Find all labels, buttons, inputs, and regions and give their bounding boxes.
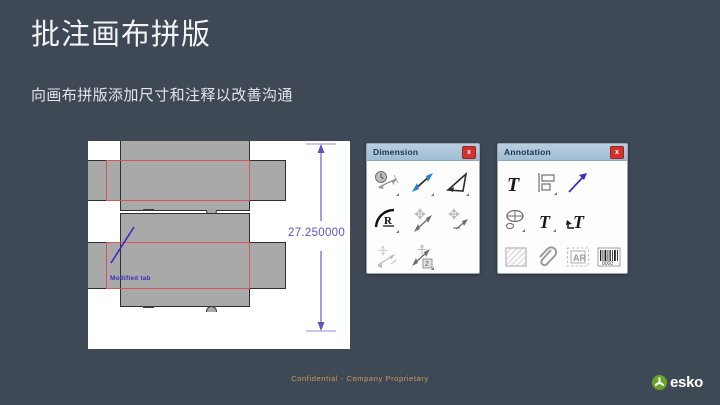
page-title: 批注画布拼版 (31, 15, 211, 55)
annotation-palette[interactable]: Annotation x T (497, 143, 628, 274)
page-subtitle: 向画布拼版添加尺寸和注释以改善沟通 (31, 85, 293, 107)
dimension-angular-icon[interactable] (442, 166, 475, 200)
annotation-spacer-2 (594, 203, 623, 237)
text-align-icon[interactable] (533, 166, 562, 200)
esko-logo-mark (652, 375, 667, 390)
dimension-offset-icon[interactable] (371, 240, 404, 274)
dimension-align-icon[interactable] (442, 203, 475, 237)
nick-upper-left (143, 209, 154, 211)
dimension-palette-body: R (367, 161, 479, 274)
arrow-leader-icon[interactable] (564, 166, 593, 200)
svg-text:T: T (539, 212, 551, 232)
close-icon[interactable]: x (610, 146, 624, 159)
dimension-vertical-measure (306, 141, 346, 349)
slide-root: 批注画布拼版 向画布拼版添加尺寸和注释以改善沟通 Modified tab (0, 0, 720, 405)
annotation-palette-body: T (498, 161, 627, 274)
dimension-radius-icon[interactable]: R (371, 203, 404, 237)
svg-text:AR: AR (573, 253, 586, 263)
dimension-palette-title: Dimension (373, 147, 418, 157)
dimension-edit-icon[interactable]: 2 (406, 240, 439, 274)
dimension-palette-titlebar[interactable]: Dimension x (367, 144, 479, 161)
dimension-smart-icon[interactable] (371, 166, 404, 200)
text-place-icon[interactable]: T (564, 203, 593, 237)
annotation-text-label: Modified tab (110, 275, 151, 282)
svg-text:T: T (573, 212, 585, 232)
annotation-leader-line (102, 225, 142, 267)
svg-text:0000: 0000 (602, 261, 613, 267)
annotation-palette-titlebar[interactable]: Annotation x (498, 144, 627, 161)
dieline-artwork-canvas: Modified tab 27.250000 (88, 141, 350, 349)
svg-text:2: 2 (425, 261, 429, 268)
panel-lower-right-flap (249, 242, 286, 289)
paperclip-icon[interactable] (533, 240, 562, 274)
text-tool-icon[interactable]: T (502, 166, 531, 200)
esko-logo-wordmark: esko (670, 375, 703, 390)
text-edit-icon[interactable]: T (533, 203, 562, 237)
esko-logo: esko (652, 375, 703, 390)
close-icon[interactable]: x (462, 146, 476, 159)
confidential-footer-note: Confidential - Company Proprietary (0, 374, 720, 383)
balloon-icon[interactable] (502, 203, 531, 237)
dimension-palette[interactable]: Dimension x (366, 143, 480, 274)
svg-text:R: R (384, 215, 393, 227)
nick-lower-left (143, 306, 154, 308)
ar-marker-icon[interactable]: AR (564, 240, 593, 274)
dimension-value-text: 27.250000 (288, 227, 345, 239)
tab-curve-lower (206, 306, 217, 312)
svg-text:T: T (507, 174, 520, 196)
asterisk-icon (654, 377, 665, 388)
die-box-upper (106, 160, 250, 201)
hatch-fill-icon[interactable] (502, 240, 531, 274)
dimension-linear-icon[interactable] (406, 166, 439, 200)
panel-upper-right-flap (249, 160, 286, 201)
barcode-icon[interactable]: 0000 (594, 240, 623, 274)
annotation-palette-title: Annotation (504, 147, 551, 157)
annotation-spacer (594, 166, 623, 200)
dimension-move-icon[interactable] (406, 203, 439, 237)
